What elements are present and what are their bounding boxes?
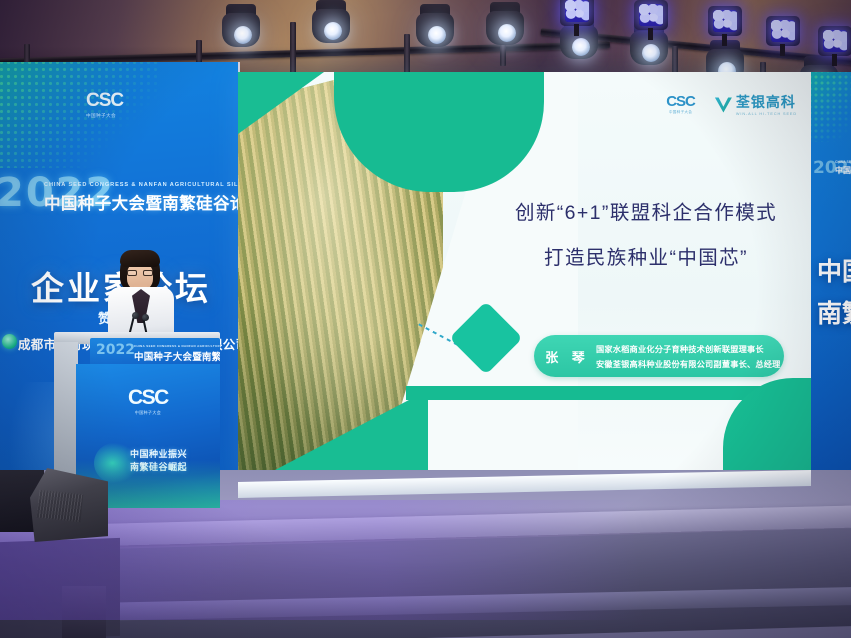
podium-english-line: CHINA SEED CONGRESS & NANFAN AGRICULTURA… xyxy=(134,344,220,348)
light-lens-icon xyxy=(572,38,590,56)
truss-post xyxy=(290,22,296,74)
right-banner-big-line2: 南繁 xyxy=(817,294,851,330)
led-par-light xyxy=(708,6,742,36)
green-triangle-top-left xyxy=(238,72,324,134)
light-lens-icon xyxy=(428,26,446,44)
right-banner-big-line1: 中国 xyxy=(817,252,851,288)
dot-pattern-decor xyxy=(811,72,851,142)
slide-title-line2: 打造民族种业“中国芯” xyxy=(496,241,796,270)
led-grid-icon xyxy=(713,10,737,32)
slide-title: 创新“6+1”联盟科企合作模式 打造民族种业“中国芯” xyxy=(496,196,796,270)
speaker-info-badge: 张 琴 国家水稻商业化分子育种技术创新联盟理事长 安徽荃银高科种业股份有限公司副… xyxy=(534,335,784,377)
led-grid-icon xyxy=(771,20,795,42)
led-par-light xyxy=(818,26,851,56)
csc-logo-text: CSC xyxy=(128,386,168,410)
glasses-icon xyxy=(127,270,153,276)
podium-header-band: 2022 CHINA SEED CONGRESS & NANFAN AGRICU… xyxy=(90,338,220,366)
csc-logo-subtext: 中国种子大会 xyxy=(86,113,146,119)
hair-fringe xyxy=(120,250,160,267)
slide-title-line1: 创新“6+1”联盟科企合作模式 xyxy=(496,196,796,225)
right-banner-chinese-line: 中国种子大会 xyxy=(835,165,851,176)
left-banner-chinese-line: 中国种子大会暨南繁硅谷论坛 xyxy=(44,190,238,214)
speaker-role-2: 安徽荃银高科种业股份有限公司副董事长、总经理 xyxy=(596,358,781,370)
moving-head-light xyxy=(486,2,524,48)
led-par-light xyxy=(560,0,594,26)
led-grid-icon xyxy=(639,4,663,26)
speaker-person xyxy=(108,250,174,342)
light-stem xyxy=(780,44,785,56)
winall-logo-text-group: 荃银高科 WIN-ALL HI-TECH SEED xyxy=(736,92,797,116)
conference-stage-photo: 2022 CSC 中国种子大会 CHINA SEED CONGRESS & NA… xyxy=(0,0,851,638)
moving-head-light xyxy=(312,0,350,46)
csc-logo: CSC 中国种子大会 xyxy=(86,90,146,124)
light-stem xyxy=(574,24,579,36)
winall-logo-cn: 荃银高科 xyxy=(736,92,797,112)
sponsor-logo-icon xyxy=(2,334,17,349)
light-lens-icon xyxy=(642,44,660,62)
speaker-grill xyxy=(37,490,84,522)
light-stem xyxy=(648,28,653,40)
moving-head-light xyxy=(222,4,260,50)
speaker-roles: 国家水稻商业化分子育种技术创新联盟理事长 安徽荃银高科种业股份有限公司副董事长、… xyxy=(596,343,781,370)
microphone-head-icon xyxy=(142,314,149,321)
glasses-lens-left xyxy=(127,270,137,276)
podium-year: 2022 xyxy=(96,342,135,358)
light-stem xyxy=(722,34,727,46)
csc-logo-text: CSC xyxy=(86,90,146,112)
presentation-slide: CSC 中国种子大会 荃银高科 WIN-ALL HI-TECH SEED 创新“… xyxy=(238,72,811,482)
winall-logo-en: WIN-ALL HI-TECH SEED xyxy=(736,112,797,116)
slide-logo-row: CSC 中国种子大会 荃银高科 WIN-ALL HI-TECH SEED xyxy=(666,84,797,124)
led-par-light xyxy=(766,16,800,46)
csc-logo-subtext: 中国种子大会 xyxy=(128,410,168,416)
winall-logo: 荃银高科 WIN-ALL HI-TECH SEED xyxy=(715,92,797,116)
led-grid-icon xyxy=(565,0,589,22)
csc-logo-subtext: 中国种子大会 xyxy=(669,110,692,115)
right-led-banner: 2022 CHINA SEED CONGRESS 中国种子大会 中国 南繁 xyxy=(811,72,851,482)
speaker-role-1: 国家水稻商业化分子育种技术创新联盟理事长 xyxy=(596,343,781,355)
winall-mark-icon xyxy=(715,96,732,113)
light-lens-icon xyxy=(324,22,342,40)
csc-logo: CSC 中国种子大会 xyxy=(666,93,695,115)
podium-chinese-line: 中国种子大会暨南繁硅谷论坛 xyxy=(134,349,220,363)
microphone-head-icon xyxy=(132,312,139,319)
led-par-light xyxy=(634,0,668,30)
light-lens-icon xyxy=(234,26,252,44)
green-triangle-bottom xyxy=(252,390,428,482)
right-banner-english-line: CHINA SEED CONGRESS xyxy=(835,160,851,164)
csc-logo: CSC 中国种子大会 xyxy=(128,386,168,416)
stage-block xyxy=(62,586,106,638)
left-banner-english-line: CHINA SEED CONGRESS & NANFAN AGRICULTURA… xyxy=(44,182,238,188)
moving-head-light xyxy=(416,4,454,50)
glasses-lens-right xyxy=(143,270,153,276)
light-stem xyxy=(832,54,837,66)
csc-logo-text: CSC xyxy=(666,93,695,110)
speaker-name: 张 琴 xyxy=(534,347,596,366)
light-lens-icon xyxy=(498,24,516,42)
led-grid-icon xyxy=(823,30,847,52)
